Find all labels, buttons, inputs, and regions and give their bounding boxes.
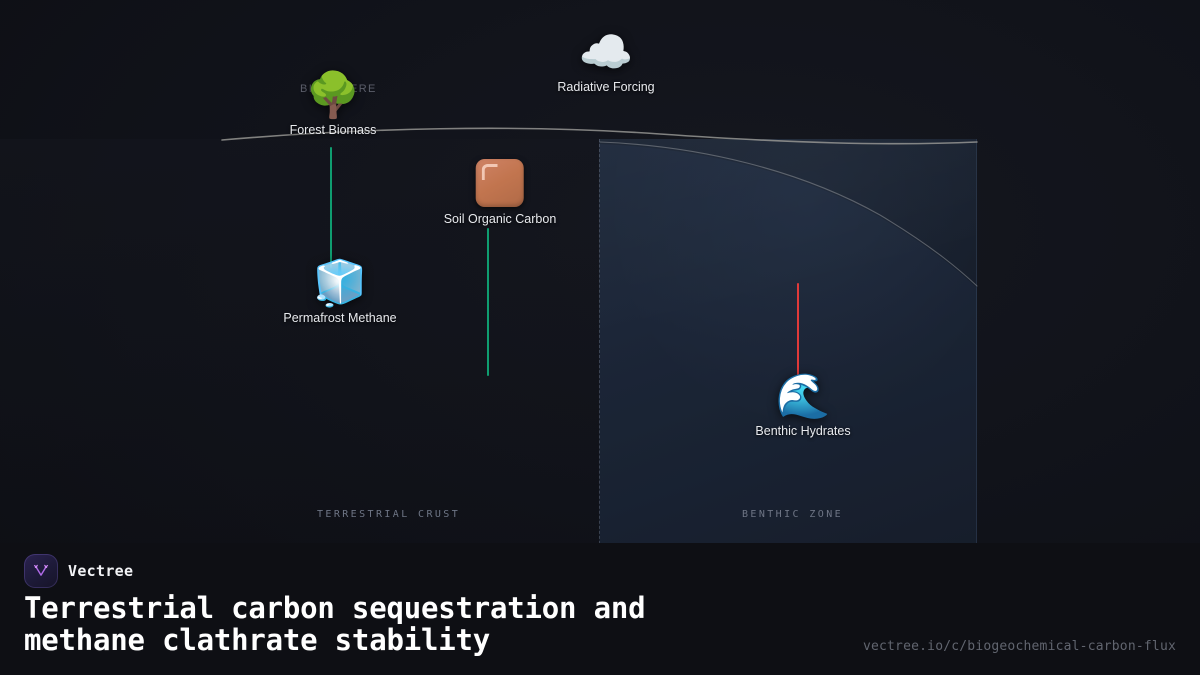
node-soil-organic-carbon[interactable]: Soil Organic Carbon (444, 159, 557, 226)
page-title: Terrestrial carbon sequestration and met… (24, 592, 854, 657)
diagram-canvas: BIOSPHERE ☁️ Radiative Forcing 🌳 Forest … (0, 0, 1200, 675)
node-label-soil-organic-carbon: Soil Organic Carbon (444, 212, 557, 226)
soil-tile-icon (476, 159, 524, 207)
brand-row: Vectree (24, 554, 133, 588)
zone-caption-terrestrial: TERRESTRIAL CRUST (317, 509, 460, 520)
node-permafrost-methane[interactable]: 🧊 Permafrost Methane (283, 262, 396, 325)
vectree-v-logo-glyph (31, 561, 51, 581)
node-label-benthic-hydrates: Benthic Hydrates (755, 424, 850, 438)
zone-caption-benthic: BENTHIC ZONE (742, 509, 843, 520)
zone-panel-benthic (599, 139, 977, 564)
wave-icon: 🌊 (776, 375, 831, 419)
caption-block: Vectree Terrestrial carbon sequestration… (0, 543, 1200, 675)
cloud-icon: ☁️ (579, 31, 634, 75)
node-label-forest-biomass: Forest Biomass (290, 123, 377, 137)
tree-icon: 🌳 (306, 74, 361, 118)
node-radiative-forcing[interactable]: ☁️ Radiative Forcing (557, 31, 654, 94)
edge-forest-to-permafrost (330, 147, 332, 268)
edge-hydrate-destabilization (797, 283, 799, 381)
source-url[interactable]: vectree.io/c/biogeochemical-carbon-flux (863, 639, 1176, 654)
ice-cube-icon: 🧊 (313, 262, 368, 306)
node-forest-biomass[interactable]: 🌳 Forest Biomass (290, 74, 377, 137)
zone-divider (599, 139, 600, 564)
edge-soil-downflux (487, 228, 489, 376)
brand-name: Vectree (68, 562, 133, 580)
node-benthic-hydrates[interactable]: 🌊 Benthic Hydrates (755, 375, 850, 438)
headline-line-2: methane clathrate stability (24, 624, 854, 656)
vectree-v-logo (24, 554, 58, 588)
node-label-radiative-forcing: Radiative Forcing (557, 80, 654, 94)
node-label-permafrost-methane: Permafrost Methane (283, 311, 396, 325)
headline-line-1: Terrestrial carbon sequestration and (24, 592, 854, 624)
